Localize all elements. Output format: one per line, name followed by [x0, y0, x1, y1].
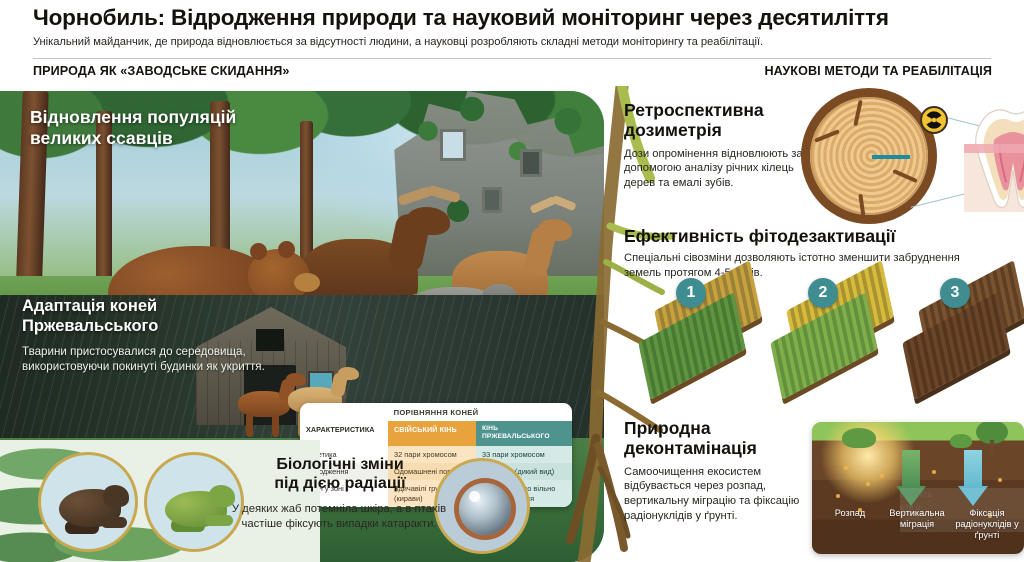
radionuclide-particle: [998, 478, 1002, 482]
eye-glint: [469, 491, 480, 502]
deer-head: [538, 219, 572, 241]
tree-rings-illustration: [810, 97, 928, 215]
leader-line: [911, 193, 966, 208]
ruin-window: [520, 149, 542, 177]
dark-frog-photo: [38, 452, 138, 552]
radionuclide-particle: [836, 494, 840, 498]
bush-icon: [842, 428, 876, 448]
section-kicker-right: НАУКОВІ МЕТОДИ ТА РЕАБІЛІТАЦІЯ: [764, 64, 992, 78]
page-title: Чорнобиль: Відродження природи та науков…: [33, 5, 998, 31]
header: Чорнобиль: Відродження природи та науков…: [0, 0, 1024, 92]
bio-changes-title: Біологічні змінипід дією радіації: [240, 456, 440, 494]
arrow-body: [964, 450, 982, 488]
bear-ear: [278, 241, 295, 258]
bear-ear: [250, 243, 267, 260]
table-caption: ПОРІВНЯННЯ КОНЕЙ: [300, 403, 572, 421]
step-badge-1: 1: [676, 278, 706, 308]
frog-head: [103, 485, 129, 507]
horses-body: Тварини пристосувалися до середовища, ви…: [22, 344, 284, 375]
horses-title: Адаптація конейПржевальського: [22, 297, 272, 337]
horse-head: [338, 367, 359, 380]
bio-changes-section: Біологічні змінипід дією радіації У деяк…: [0, 440, 604, 562]
radionuclide-particle: [880, 474, 884, 478]
arrow-body: [902, 450, 920, 488]
tree-stem: [990, 440, 994, 454]
bio-changes-body: У деяких жаб потемніла шкіра, а в птахів…: [226, 502, 452, 531]
decontamination-body: Самоочищення екосистем відбувається чере…: [624, 465, 810, 524]
dosimetry-section: Ретроспективнадозиметрія Дози опроміненн…: [624, 100, 1024, 191]
decontamination-title: Природнадеконтамінація: [624, 418, 804, 459]
phytodecontamination-section: Ефективність фітодезактивації Спеціальні…: [624, 226, 1024, 281]
phyto-body: Спеціальні сівозміни дозволяють істотно …: [624, 251, 996, 280]
ruin-window: [482, 187, 502, 213]
horse-head: [286, 373, 306, 386]
phyto-title: Ефективність фітодезактивації: [624, 226, 1024, 246]
radiation-hazard-icon: [920, 106, 948, 134]
horse-leg: [246, 413, 253, 437]
moose-head: [406, 207, 450, 235]
section-kicker-left: ПРИРОДА ЯК «ЗАВОДСЬКЕ СКИДАННЯ»: [33, 64, 290, 78]
soil-label-decay: Розпад: [818, 508, 882, 519]
ruin-window: [440, 129, 466, 161]
step-badge-2: 2: [808, 278, 838, 308]
dosimetry-body: Дози опромінення відновлюють за допомого…: [624, 147, 824, 191]
mammals-title: Відновлення популяційвеликих ссавців: [30, 107, 360, 150]
horse-leg: [272, 414, 279, 437]
tooth-enamel-illustration: [964, 100, 1024, 212]
crop-rotation-diagram: 1 2 3: [632, 282, 1024, 390]
dosimetry-title: Ретроспективнадозиметрія: [624, 100, 804, 141]
page-subtitle: Унікальний майданчик, де природа відновл…: [33, 36, 998, 48]
radionuclide-particle: [844, 466, 848, 470]
frog-leg: [101, 517, 127, 528]
bush-icon: [950, 434, 972, 448]
ring-measure-marker: [872, 155, 910, 159]
watermark-overlay: атиснітьити о: [900, 488, 1024, 532]
radionuclide-particle: [932, 470, 936, 474]
eye-iris: [459, 483, 511, 535]
header-divider: [33, 58, 991, 59]
step-badge-3: 3: [940, 278, 970, 308]
bear-snout: [294, 273, 320, 292]
radionuclide-particle: [866, 482, 870, 486]
infographic-page: Чорнобиль: Відродження природи та науков…: [0, 0, 1024, 562]
